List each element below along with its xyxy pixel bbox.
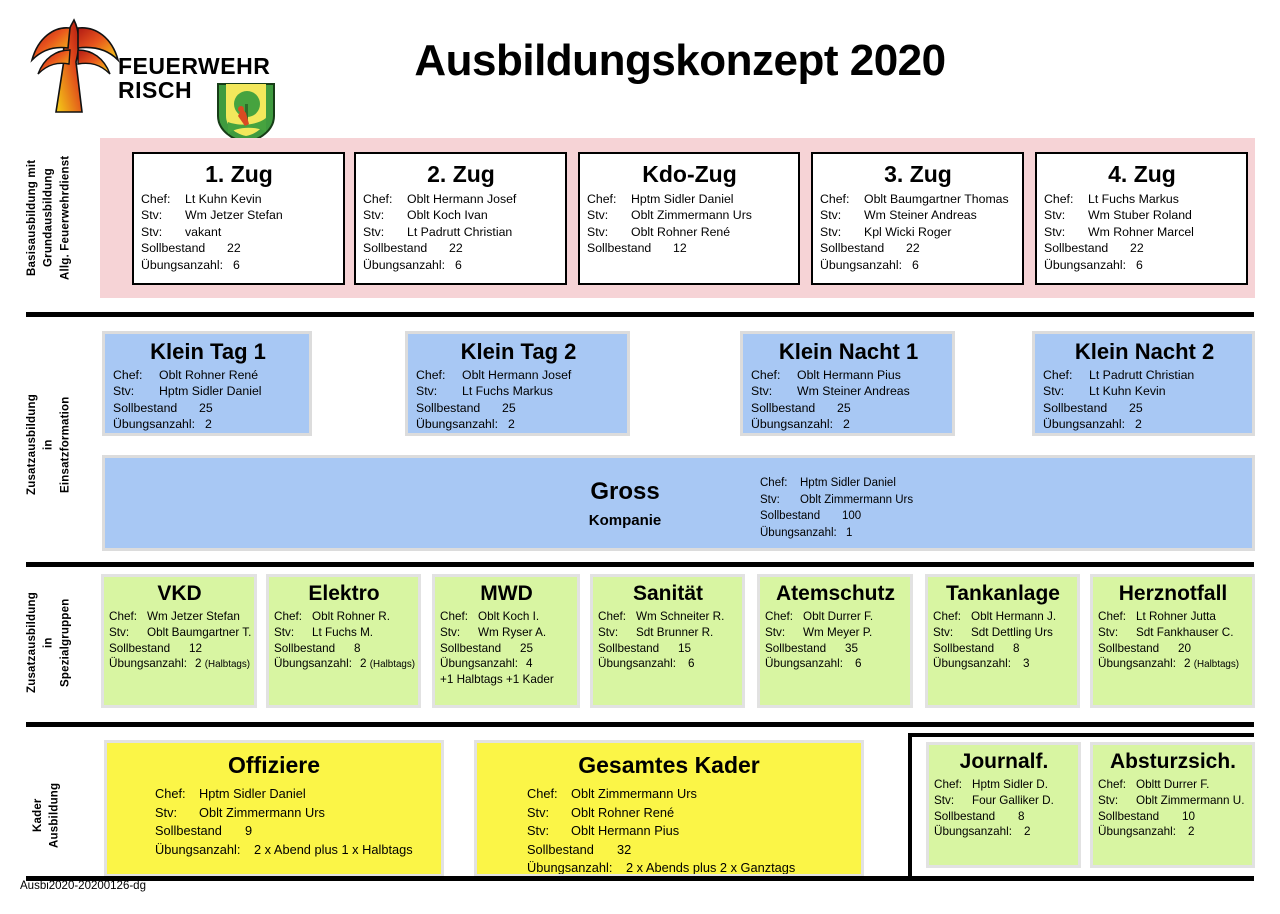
- formation-ueb-row: Übungsanzahl:2: [113, 416, 303, 432]
- label-stv: Stv:: [1098, 625, 1136, 641]
- value-sollbestand: 8: [354, 641, 361, 657]
- label-stv2: Stv:: [527, 822, 571, 841]
- formation-box-gross-kompanie[interactable]: Gross Kompanie Chef:Hptm Sidler Daniel S…: [102, 455, 1255, 551]
- group-soll-row: Sollbestand12: [109, 641, 250, 657]
- group-ueb-row: Übungsanzahl:3: [933, 656, 1073, 672]
- group-ueb-row: Übungsanzahl:6: [765, 656, 906, 672]
- group-box-elektro[interactable]: Elektro Chef:Oblt Rohner R. Stv:Lt Fuchs…: [266, 574, 421, 708]
- label-chef: Chef:: [598, 609, 636, 625]
- kader-stv-row: Stv:Oblt Zimmermann U.: [1098, 793, 1248, 809]
- formation-stv-row: Stv:Wm Steiner Andreas: [751, 383, 946, 399]
- label-stv: Stv:: [1044, 207, 1088, 223]
- unit-stv2-row: Stv:vakant: [141, 224, 337, 240]
- value-sollbestand: 25: [837, 400, 851, 416]
- label-stv: Stv:: [363, 207, 407, 223]
- value-uebungsanzahl: 4: [526, 656, 533, 672]
- value-uebungsanzahl: 2: [1184, 656, 1191, 672]
- label-sollbestand: Sollbestand: [440, 641, 520, 657]
- label-sollbestand: Sollbestand: [598, 641, 678, 657]
- formation-soll-row: Sollbestand100: [760, 508, 913, 525]
- value-chef: Oblt Durrer F.: [803, 609, 873, 625]
- group-box-vkd[interactable]: VKD Chef:Wm Jetzer Stefan Stv:Oblt Baumg…: [101, 574, 257, 708]
- label-stv: Stv:: [274, 625, 312, 641]
- value-chef: Obltt Durrer F.: [1136, 777, 1209, 793]
- value-uebungsanzahl-note: (Halbtags): [205, 659, 250, 670]
- label-chef: Chef:: [933, 609, 971, 625]
- label-stv: Stv:: [820, 207, 864, 223]
- value-uebungsanzahl: 2: [843, 416, 850, 432]
- group-ueb-row: Übungsanzahl:2 (Halbtags): [274, 656, 414, 672]
- formation-subtitle: Kompanie: [525, 512, 725, 529]
- label-stv: Stv:: [416, 383, 462, 399]
- feuerwehr-flame-icon: [26, 16, 126, 116]
- value-chef: Oblt Zimmermann Urs: [571, 785, 697, 804]
- kader-soll-row: Sollbestand8: [934, 809, 1074, 825]
- formation-chef-row: Chef:Hptm Sidler Daniel: [760, 475, 913, 492]
- value-chef: Hptm Sidler Daniel: [199, 785, 306, 804]
- kader-chef-row: Chef:Hptm Sidler Daniel: [155, 785, 435, 804]
- group-soll-row: Sollbestand8: [933, 641, 1073, 657]
- label-uebungsanzahl: Übungsanzahl:: [527, 859, 626, 877]
- label-uebungsanzahl: Übungsanzahl:: [1098, 824, 1188, 840]
- label-stv: Stv:: [527, 804, 571, 823]
- label-uebungsanzahl: Übungsanzahl:: [933, 656, 1023, 672]
- value-uebungsanzahl: 2: [508, 416, 515, 432]
- formation-title: Klein Tag 1: [113, 340, 303, 363]
- value-sollbestand: 12: [673, 240, 687, 256]
- group-title: MWD: [440, 583, 573, 605]
- value-stv: Wm Meyer P.: [803, 625, 872, 641]
- value-uebungsanzahl: 6: [688, 656, 695, 672]
- kader-ueb-row: Übungsanzahl:2: [934, 824, 1074, 840]
- section-divider-1: [26, 312, 1254, 317]
- value-chef: Wm Schneiter R.: [636, 609, 724, 625]
- value-sollbestand: 10: [1182, 809, 1195, 825]
- value-sollbestand: 8: [1013, 641, 1020, 657]
- value-chef: Oblt Koch I.: [478, 609, 539, 625]
- unit-ueb-row: Übungsanzahl:6: [363, 257, 559, 273]
- label-sollbestand: Sollbestand: [765, 641, 845, 657]
- label-sollbestand: Sollbestand: [416, 400, 502, 416]
- value-uebungsanzahl-note: (Halbtags): [1194, 659, 1239, 670]
- value-sollbestand: 22: [227, 240, 241, 256]
- group-soll-row: Sollbestand35: [765, 641, 906, 657]
- formation-chef-row: Chef:Oblt Hermann Josef: [416, 367, 621, 383]
- value-stv: Lt Kuhn Kevin: [1089, 383, 1166, 399]
- group-stv-row: Stv:Sdt Dettling Urs: [933, 625, 1073, 641]
- label-stv: Stv:: [760, 492, 800, 509]
- value-stv: Wm Jetzer Stefan: [185, 207, 283, 223]
- label-stv: Stv:: [1043, 383, 1089, 399]
- unit-soll-row: Sollbestand12: [587, 240, 792, 256]
- label-sollbestand: Sollbestand: [820, 240, 906, 256]
- value-stv: Sdt Dettling Urs: [971, 625, 1053, 641]
- label-sollbestand: Sollbestand: [527, 841, 617, 860]
- label-uebungsanzahl: Übungsanzahl:: [765, 656, 855, 672]
- value-uebungsanzahl: 2: [1188, 824, 1195, 840]
- value-stv: Wm Ryser A.: [478, 625, 546, 641]
- value-sollbestand: 32: [617, 841, 631, 860]
- label-uebungsanzahl: Übungsanzahl:: [760, 525, 846, 542]
- label-chef: Chef:: [109, 609, 147, 625]
- value-stv: Oblt Zimmermann Urs: [199, 804, 325, 823]
- formation-ueb-row: Übungsanzahl:1: [760, 525, 913, 542]
- value-stv2: Lt Padrutt Christian: [407, 224, 512, 240]
- unit-box-zug-2[interactable]: 2. Zug Chef:Oblt Hermann Josef Stv:Oblt …: [354, 152, 567, 285]
- label-sollbestand: Sollbestand: [274, 641, 354, 657]
- label-chef: Chef:: [113, 367, 159, 383]
- unit-box-kdo-zug[interactable]: Kdo-Zug Chef:Hptm Sidler Daniel Stv:Oblt…: [578, 152, 800, 285]
- group-box-tankanlage[interactable]: Tankanlage Chef:Oblt Hermann J. Stv:Sdt …: [925, 574, 1080, 708]
- label-uebungsanzahl: Übungsanzahl:: [1098, 656, 1184, 672]
- formation-chef-row: Chef:Lt Padrutt Christian: [1043, 367, 1246, 383]
- unit-title: 1. Zug: [141, 162, 337, 186]
- value-sollbestand: 20: [1178, 641, 1191, 657]
- formation-title: Klein Tag 2: [416, 340, 621, 363]
- value-uebungsanzahl: 6: [855, 656, 862, 672]
- label-uebungsanzahl: Übungsanzahl:: [751, 416, 843, 432]
- page-header: FEUERWEHR RISCH Ausbildungskonzept 2020: [0, 0, 1280, 132]
- label-sollbestand: Sollbestand: [1098, 641, 1178, 657]
- value-stv: Lt Fuchs M.: [312, 625, 373, 641]
- label-sollbestand: Sollbestand: [1098, 809, 1182, 825]
- label-sollbestand: Sollbestand: [934, 809, 1018, 825]
- label-chef: Chef:: [751, 367, 797, 383]
- label-sollbestand: Sollbestand: [363, 240, 449, 256]
- group-stv-row: Stv:Sdt Brunner R.: [598, 625, 738, 641]
- unit-box-zug-4[interactable]: 4. Zug Chef:Lt Fuchs Markus Stv:Wm Stube…: [1035, 152, 1248, 285]
- value-stv: Four Galliker D.: [972, 793, 1054, 809]
- formation-stv-row: Stv:Lt Fuchs Markus: [416, 383, 621, 399]
- value-stv: Oblt Zimmermann Urs: [631, 207, 752, 223]
- kader-box-gesamtes-kader[interactable]: Gesamtes Kader Chef:Oblt Zimmermann Urs …: [474, 740, 864, 877]
- value-stv: Oblt Rohner René: [571, 804, 674, 823]
- value-sollbestand: 15: [678, 641, 691, 657]
- kader-stv-row: Stv:Four Galliker D.: [934, 793, 1074, 809]
- unit-chef-row: Chef:Lt Fuchs Markus: [1044, 191, 1240, 207]
- section-label-einsatzformation: Zusatzausbildung in Einsatzformation: [24, 350, 80, 540]
- value-sollbestand: 25: [1129, 400, 1143, 416]
- group-chef-row: Chef:Oblt Koch I.: [440, 609, 573, 625]
- group-stv-row: Stv:Wm Ryser A.: [440, 625, 573, 641]
- kader-soll-row: Sollbestand32: [527, 841, 855, 860]
- value-sollbestand: 22: [449, 240, 463, 256]
- label-uebungsanzahl: Übungsanzahl:: [141, 257, 233, 273]
- group-chef-row: Chef:Wm Schneiter R.: [598, 609, 738, 625]
- label-uebungsanzahl: Übungsanzahl:: [440, 656, 526, 672]
- section-divider-3: [26, 722, 1254, 727]
- kader-chef-row: Chef:Oblt Zimmermann Urs: [527, 785, 855, 804]
- label-sollbestand: Sollbestand: [109, 641, 189, 657]
- section-divider-2: [26, 562, 1254, 567]
- value-chef: Wm Jetzer Stefan: [147, 609, 240, 625]
- value-chef: Oblt Rohner René: [159, 367, 258, 383]
- kader-frame-bottom-rule: [26, 876, 1254, 881]
- group-title: Sanität: [598, 583, 738, 605]
- kader-title: Absturzsich.: [1098, 751, 1248, 773]
- group-box-herznotfall[interactable]: Herznotfall Chef:Lt Rohner Jutta Stv:Sdt…: [1090, 574, 1255, 708]
- unit-box-zug-3[interactable]: 3. Zug Chef:Oblt Baumgartner Thomas Stv:…: [811, 152, 1024, 285]
- value-uebungsanzahl: 2: [360, 656, 367, 672]
- unit-stv2-row: Stv:Kpl Wicki Roger: [820, 224, 1016, 240]
- unit-box-zug-1[interactable]: 1. Zug Chef:Lt Kuhn Kevin Stv:Wm Jetzer …: [132, 152, 345, 285]
- value-sollbestand: 12: [189, 641, 202, 657]
- value-uebungsanzahl: 2 x Abends plus 2 x Ganztags: [626, 859, 795, 877]
- value-stv: Oblt Koch Ivan: [407, 207, 488, 223]
- label-chef: Chef:: [1098, 777, 1136, 793]
- value-sollbestand: 9: [245, 822, 252, 841]
- formation-title: Klein Nacht 2: [1043, 340, 1246, 363]
- value-stv: Lt Fuchs Markus: [462, 383, 553, 399]
- label-chef: Chef:: [141, 191, 185, 207]
- logo-wordmark-line1: FEUERWEHR: [118, 54, 270, 78]
- group-soll-row: Sollbestand8: [274, 641, 414, 657]
- group-ueb-row: Übungsanzahl:2 (Halbtags): [1098, 656, 1248, 672]
- unit-stv-row: Stv:Oblt Koch Ivan: [363, 207, 559, 223]
- formation-box-klein-nacht-1[interactable]: Klein Nacht 1 Chef:Oblt Hermann Pius Stv…: [740, 331, 955, 436]
- value-chef: Oblt Rohner R.: [312, 609, 390, 625]
- kader-box-offiziere[interactable]: Offiziere Chef:Hptm Sidler Daniel Stv:Ob…: [104, 740, 444, 877]
- unit-ueb-row: Übungsanzahl:6: [820, 257, 1016, 273]
- value-uebungsanzahl: 2 x Abend plus 1 x Halbtags: [254, 841, 413, 860]
- label-stv2: Stv:: [820, 224, 864, 240]
- value-stv: Sdt Brunner R.: [636, 625, 713, 641]
- value-chef: Oblt Baumgartner Thomas: [864, 191, 1009, 207]
- label-stv: Stv:: [1098, 793, 1136, 809]
- value-chef: Lt Kuhn Kevin: [185, 191, 262, 207]
- label-sollbestand: Sollbestand: [1044, 240, 1130, 256]
- label-stv: Stv:: [933, 625, 971, 641]
- group-soll-row: Sollbestand25: [440, 641, 573, 657]
- label-chef: Chef:: [765, 609, 803, 625]
- kader-ueb-row: Übungsanzahl:2 x Abends plus 2 x Ganztag…: [527, 859, 855, 877]
- kader-ueb-row: Übungsanzahl:2: [1098, 824, 1248, 840]
- value-stv2: Oblt Hermann Pius: [571, 822, 679, 841]
- document-footer-note: Ausbi2020-20200126-dg: [20, 880, 146, 892]
- value-uebungsanzahl: 6: [233, 257, 240, 273]
- formation-box-klein-tag-2[interactable]: Klein Tag 2 Chef:Oblt Hermann Josef Stv:…: [405, 331, 630, 436]
- formation-soll-row: Sollbestand25: [416, 400, 621, 416]
- value-chef: Hptm Sidler Daniel: [800, 475, 896, 492]
- label-stv: Stv:: [587, 207, 631, 223]
- group-title: Tankanlage: [933, 583, 1073, 605]
- kader-title: Gesamtes Kader: [483, 753, 855, 777]
- label-uebungsanzahl: Übungsanzahl:: [416, 416, 508, 432]
- label-uebungsanzahl: Übungsanzahl:: [363, 257, 455, 273]
- value-sollbestand: 25: [502, 400, 516, 416]
- group-stv-row: Stv:Sdt Fankhauser C.: [1098, 625, 1248, 641]
- label-stv2: Stv:: [1044, 224, 1088, 240]
- formation-chef-row: Chef:Oblt Rohner René: [113, 367, 303, 383]
- value-uebungsanzahl: 3: [1023, 656, 1030, 672]
- label-uebungsanzahl: Übungsanzahl:: [109, 656, 195, 672]
- label-stv: Stv:: [141, 207, 185, 223]
- label-stv: Stv:: [109, 625, 147, 641]
- value-uebungsanzahl: 6: [1136, 257, 1143, 273]
- label-chef: Chef:: [155, 785, 199, 804]
- value-chef: Oblt Hermann J.: [971, 609, 1056, 625]
- label-uebungsanzahl: Übungsanzahl:: [598, 656, 688, 672]
- label-stv: Stv:: [598, 625, 636, 641]
- section-label-kaderausbildung: Kader Ausbildung: [30, 760, 76, 870]
- label-stv2: Stv:: [141, 224, 185, 240]
- formation-stv-row: Stv:Lt Kuhn Kevin: [1043, 383, 1246, 399]
- group-stv-row: Stv:Oblt Baumgartner T.: [109, 625, 250, 641]
- value-uebungsanzahl: 6: [455, 257, 462, 273]
- group-chef-row: Chef:Wm Jetzer Stefan: [109, 609, 250, 625]
- group-chef-row: Chef:Oblt Hermann J.: [933, 609, 1073, 625]
- formation-stv-row: Stv:Oblt Zimmermann Urs: [760, 492, 913, 509]
- label-chef: Chef:: [416, 367, 462, 383]
- label-stv: Stv:: [440, 625, 478, 641]
- value-sollbestand: 35: [845, 641, 858, 657]
- label-chef: Chef:: [934, 777, 972, 793]
- formation-soll-row: Sollbestand25: [113, 400, 303, 416]
- label-chef: Chef:: [587, 191, 631, 207]
- label-uebungsanzahl: Übungsanzahl:: [934, 824, 1024, 840]
- group-stv-row: Stv:Lt Fuchs M.: [274, 625, 414, 641]
- label-chef: Chef:: [760, 475, 800, 492]
- value-chef: Oblt Hermann Josef: [462, 367, 571, 383]
- label-sollbestand: Sollbestand: [155, 822, 245, 841]
- unit-stv-row: Stv:Oblt Zimmermann Urs: [587, 207, 792, 223]
- label-chef: Chef:: [363, 191, 407, 207]
- unit-title: 2. Zug: [363, 162, 559, 186]
- value-chef: Hptm Sidler D.: [972, 777, 1048, 793]
- value-stv2: Kpl Wicki Roger: [864, 224, 951, 240]
- kader-title: Offiziere: [113, 753, 435, 777]
- kader-soll-row: Sollbestand10: [1098, 809, 1248, 825]
- value-uebungsanzahl: 2: [205, 416, 212, 432]
- unit-stv-row: Stv:Wm Stuber Roland: [1044, 207, 1240, 223]
- value-stv: Hptm Sidler Daniel: [159, 383, 262, 399]
- group-box-atemschutz[interactable]: Atemschutz Chef:Oblt Durrer F. Stv:Wm Me…: [757, 574, 913, 708]
- value-uebungsanzahl: 2: [1135, 416, 1142, 432]
- kader-soll-row: Sollbestand9: [155, 822, 435, 841]
- formation-soll-row: Sollbestand25: [1043, 400, 1246, 416]
- value-chef: Lt Padrutt Christian: [1089, 367, 1194, 383]
- label-stv: Stv:: [934, 793, 972, 809]
- value-uebungsanzahl: 2: [1024, 824, 1031, 840]
- unit-soll-row: Sollbestand22: [820, 240, 1016, 256]
- label-stv: Stv:: [113, 383, 159, 399]
- group-soll-row: Sollbestand15: [598, 641, 738, 657]
- label-sollbestand: Sollbestand: [587, 240, 673, 256]
- formation-box-klein-tag-1[interactable]: Klein Tag 1 Chef:Oblt Rohner René Stv:Hp…: [102, 331, 312, 436]
- label-stv2: Stv:: [587, 224, 631, 240]
- value-sollbestand: 8: [1018, 809, 1025, 825]
- group-box-sanitaet[interactable]: Sanität Chef:Wm Schneiter R. Stv:Sdt Bru…: [590, 574, 745, 708]
- unit-ueb-row: Übungsanzahl:6: [141, 257, 337, 273]
- risch-coat-of-arms-icon: [214, 82, 278, 144]
- label-uebungsanzahl: Übungsanzahl:: [274, 656, 360, 672]
- unit-chef-row: Chef:Lt Kuhn Kevin: [141, 191, 337, 207]
- value-stv: Oblt Zimmermann Urs: [800, 492, 913, 509]
- unit-stv2-row: Stv:Wm Rohner Marcel: [1044, 224, 1240, 240]
- group-ueb-row: Übungsanzahl:2 (Halbtags): [109, 656, 250, 672]
- value-chef: Hptm Sidler Daniel: [631, 191, 734, 207]
- group-stv-row: Stv:Wm Meyer P.: [765, 625, 906, 641]
- label-chef: Chef:: [1044, 191, 1088, 207]
- kader-stv-row: Stv:Oblt Zimmermann Urs: [155, 804, 435, 823]
- group-chef-row: Chef:Oblt Rohner R.: [274, 609, 414, 625]
- formation-title: Gross: [525, 478, 725, 506]
- unit-ueb-row: Übungsanzahl:6: [1044, 257, 1240, 273]
- label-uebungsanzahl: Übungsanzahl:: [155, 841, 254, 860]
- kader-chef-row: Chef:Obltt Durrer F.: [1098, 777, 1248, 793]
- label-sollbestand: Sollbestand: [751, 400, 837, 416]
- group-title: Herznotfall: [1098, 583, 1248, 605]
- value-stv2: Oblt Rohner René: [631, 224, 730, 240]
- value-stv: Wm Steiner Andreas: [864, 207, 977, 223]
- group-title: VKD: [109, 583, 250, 605]
- kader-box-journalfuehrung[interactable]: Journalf. Chef:Hptm Sidler D. Stv:Four G…: [926, 742, 1081, 868]
- kader-stv-row: Stv:Oblt Rohner René: [527, 804, 855, 823]
- value-stv: Wm Stuber Roland: [1088, 207, 1192, 223]
- unit-title: 4. Zug: [1044, 162, 1240, 186]
- label-chef: Chef:: [274, 609, 312, 625]
- formation-stv-row: Stv:Hptm Sidler Daniel: [113, 383, 303, 399]
- unit-title: 3. Zug: [820, 162, 1016, 186]
- label-sollbestand: Sollbestand: [933, 641, 1013, 657]
- group-ueb-row: Übungsanzahl:6: [598, 656, 738, 672]
- value-sollbestand: 22: [906, 240, 920, 256]
- formation-box-klein-nacht-2[interactable]: Klein Nacht 2 Chef:Lt Padrutt Christian …: [1032, 331, 1255, 436]
- value-stv: Sdt Fankhauser C.: [1136, 625, 1233, 641]
- group-box-mwd[interactable]: MWD Chef:Oblt Koch I. Stv:Wm Ryser A. So…: [432, 574, 580, 708]
- unit-soll-row: Sollbestand22: [363, 240, 559, 256]
- value-uebungsanzahl-note: (Halbtags): [370, 659, 415, 670]
- value-stv: Wm Steiner Andreas: [797, 383, 910, 399]
- value-sollbestand: 22: [1130, 240, 1144, 256]
- label-chef: Chef:: [527, 785, 571, 804]
- value-chef: Lt Fuchs Markus: [1088, 191, 1179, 207]
- label-chef: Chef:: [1043, 367, 1089, 383]
- kader-chef-row: Chef:Hptm Sidler D.: [934, 777, 1074, 793]
- unit-title: Kdo-Zug: [587, 162, 792, 186]
- unit-stv-row: Stv:Wm Steiner Andreas: [820, 207, 1016, 223]
- label-chef: Chef:: [440, 609, 478, 625]
- organization-logo: FEUERWEHR RISCH: [18, 14, 298, 119]
- value-stv: Oblt Baumgartner T.: [147, 625, 251, 641]
- value-chef: Oblt Hermann Pius: [797, 367, 901, 383]
- label-stv: Stv:: [751, 383, 797, 399]
- section-label-spezialgruppen: Zusatzausbildung in Spezialgruppen: [24, 578, 80, 708]
- label-stv: Stv:: [155, 804, 199, 823]
- formation-chef-row: Chef:Oblt Hermann Pius: [751, 367, 946, 383]
- value-sollbestand: 25: [520, 641, 533, 657]
- label-stv2: Stv:: [363, 224, 407, 240]
- unit-chef-row: Chef:Oblt Hermann Josef: [363, 191, 559, 207]
- unit-chef-row: Chef:Hptm Sidler Daniel: [587, 191, 792, 207]
- value-sollbestand: 25: [199, 400, 213, 416]
- unit-soll-row: Sollbestand22: [141, 240, 337, 256]
- group-chef-row: Chef:Lt Rohner Jutta: [1098, 609, 1248, 625]
- value-stv: Oblt Zimmermann U.: [1136, 793, 1244, 809]
- group-ueb-row: Übungsanzahl:4: [440, 656, 573, 672]
- kader-stv2-row: Stv:Oblt Hermann Pius: [527, 822, 855, 841]
- label-sollbestand: Sollbestand: [113, 400, 199, 416]
- label-uebungsanzahl: Übungsanzahl:: [1044, 257, 1136, 273]
- kader-box-absturzsicherung[interactable]: Absturzsich. Chef:Obltt Durrer F. Stv:Ob…: [1090, 742, 1255, 868]
- label-stv: Stv:: [765, 625, 803, 641]
- value-stv2: Wm Rohner Marcel: [1088, 224, 1194, 240]
- label-uebungsanzahl: Übungsanzahl:: [820, 257, 912, 273]
- value-uebungsanzahl: 2: [195, 656, 202, 672]
- unit-stv-row: Stv:Wm Jetzer Stefan: [141, 207, 337, 223]
- value-uebungsanzahl: 1: [846, 525, 852, 542]
- group-soll-row: Sollbestand20: [1098, 641, 1248, 657]
